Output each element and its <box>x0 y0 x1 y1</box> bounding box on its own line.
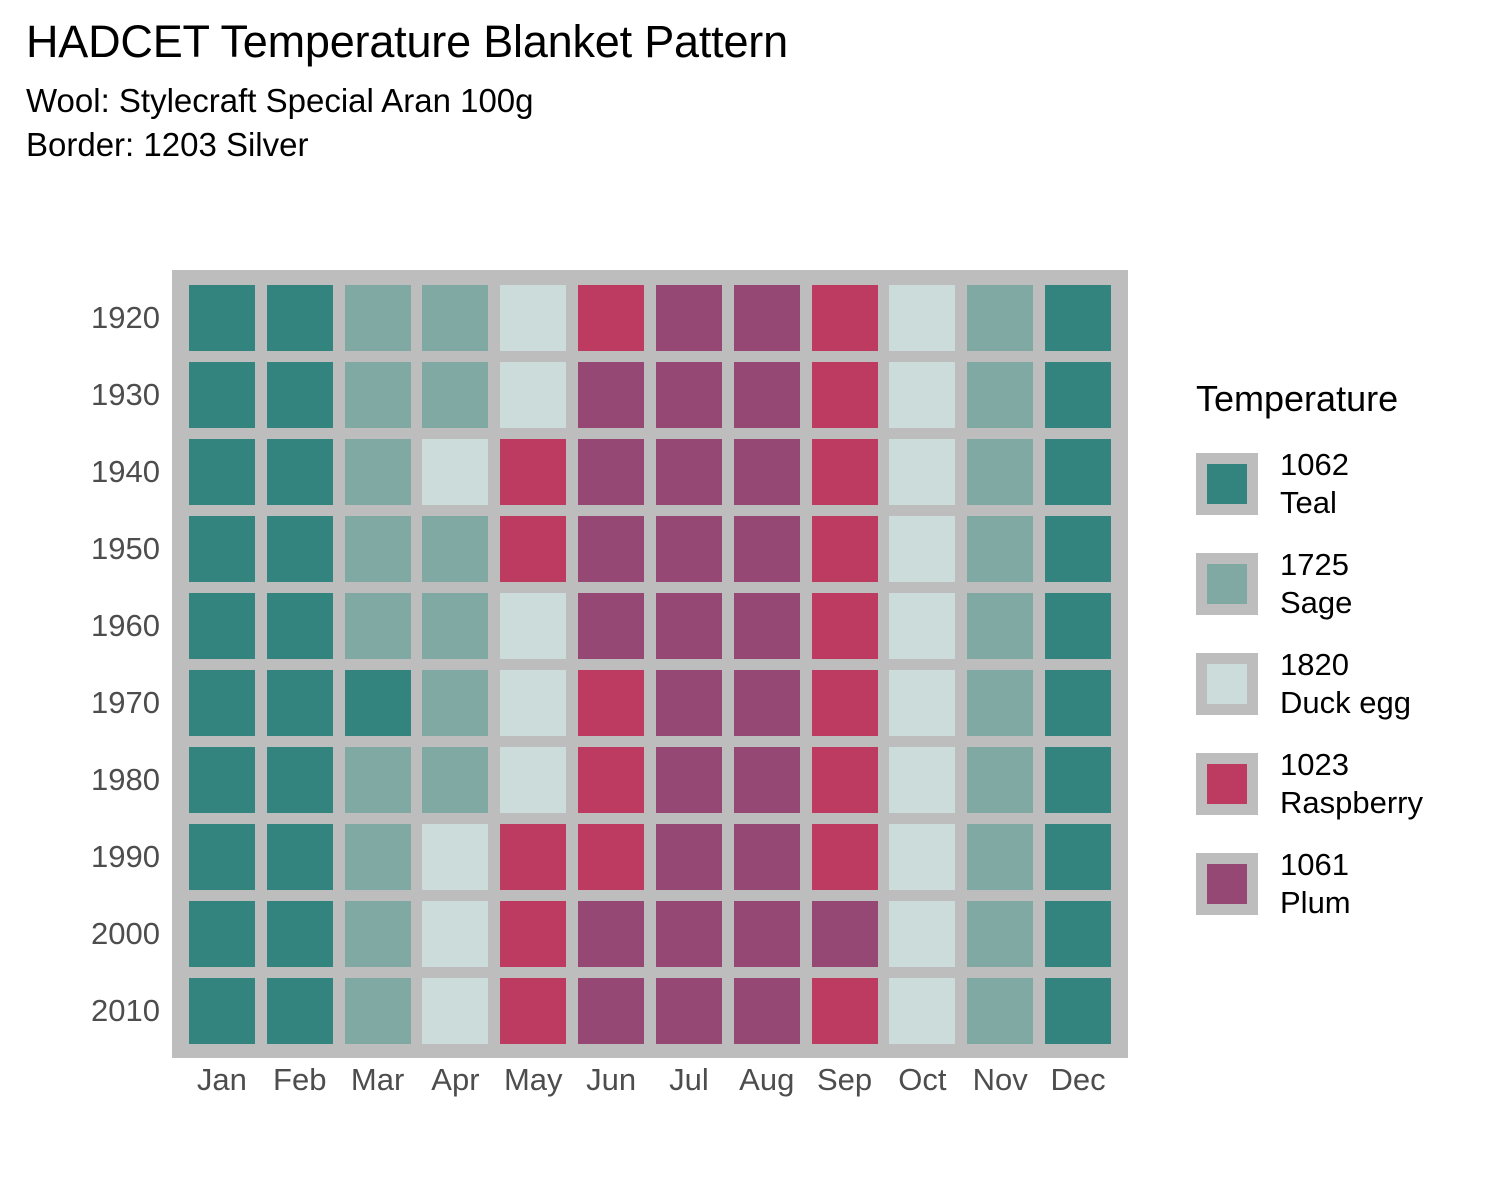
heatmap-cell-2000-May <box>500 901 566 967</box>
heatmap-cell-1960-Oct <box>889 593 955 659</box>
heatmap-cell-slot <box>572 818 650 895</box>
heatmap-cell-1980-Mar <box>345 747 411 813</box>
heatmap-cell-1930-Jul <box>656 362 722 428</box>
heatmap-cell-slot <box>650 279 728 356</box>
y-axis-tick-1970: 1970 <box>60 664 160 741</box>
legend-label: 1820Duck egg <box>1280 646 1411 722</box>
heatmap-cell-slot <box>806 433 884 510</box>
legend-label: 1062Teal <box>1280 446 1349 522</box>
legend-key-background <box>1196 453 1258 515</box>
heatmap-cell-1970-Mar <box>345 670 411 736</box>
heatmap-cell-slot <box>884 741 962 818</box>
heatmap-cell-slot <box>884 664 962 741</box>
legend-item-teal[interactable]: 1062Teal <box>1196 434 1496 534</box>
heatmap-cell-1960-Nov <box>967 593 1033 659</box>
x-axis-tick-nov: Nov <box>961 1062 1039 1118</box>
heatmap-cell-1950-Apr <box>422 516 488 582</box>
heatmap-cell-slot <box>261 587 339 664</box>
heatmap-cell-slot <box>884 587 962 664</box>
y-axis-tick-2010: 2010 <box>60 972 160 1049</box>
heatmap-cell-slot <box>650 972 728 1049</box>
heatmap-cell-slot <box>417 510 495 587</box>
heatmap-cell-1980-Jan <box>189 747 255 813</box>
heatmap-cell-1960-Jan <box>189 593 255 659</box>
heatmap-cell-slot <box>728 279 806 356</box>
heatmap-cell-slot <box>494 818 572 895</box>
legend-swatch-plum <box>1207 864 1247 904</box>
heatmap-cell-slot <box>884 818 962 895</box>
heatmap-cell-1990-Oct <box>889 824 955 890</box>
heatmap-cell-1970-Nov <box>967 670 1033 736</box>
heatmap-cell-1980-Jun <box>578 747 644 813</box>
heatmap-cell-slot <box>806 741 884 818</box>
heatmap-cell-slot <box>961 741 1039 818</box>
chart-subtitle: Wool: Stylecraft Special Aran 100gBorder… <box>26 79 1226 166</box>
heatmap-cell-slot <box>339 895 417 972</box>
legend-label: 1725Sage <box>1280 546 1352 622</box>
heatmap-cell-1940-Sep <box>812 439 878 505</box>
heatmap-cell-1970-Oct <box>889 670 955 736</box>
x-axis-tick-jun: Jun <box>572 1062 650 1118</box>
heatmap-cell-1920-Oct <box>889 285 955 351</box>
heatmap-cell-1930-Sep <box>812 362 878 428</box>
heatmap-cell-1930-Jun <box>578 362 644 428</box>
heatmap-cell-1950-Jul <box>656 516 722 582</box>
heatmap-cell-1980-Feb <box>267 747 333 813</box>
legend-name: Teal <box>1280 484 1349 522</box>
heatmap-cell-1990-Jul <box>656 824 722 890</box>
heatmap-cell-1970-Apr <box>422 670 488 736</box>
heatmap-cell-slot <box>1039 741 1117 818</box>
heatmap-cell-1990-Nov <box>967 824 1033 890</box>
heatmap-cell-slot <box>572 664 650 741</box>
heatmap-cell-1940-Oct <box>889 439 955 505</box>
heatmap-cell-slot <box>884 279 962 356</box>
heatmap-cell-slot <box>728 818 806 895</box>
heatmap-cell-slot <box>728 356 806 433</box>
heatmap-cell-1920-May <box>500 285 566 351</box>
legend-swatch-duck-egg <box>1207 664 1247 704</box>
heatmap-cell-slot <box>650 664 728 741</box>
heatmap-cell-2010-Mar <box>345 978 411 1044</box>
heatmap-cell-slot <box>650 433 728 510</box>
heatmap-cell-slot <box>261 895 339 972</box>
heatmap-cell-1920-Aug <box>734 285 800 351</box>
heatmap-cell-1950-Sep <box>812 516 878 582</box>
heatmap-cell-2010-May <box>500 978 566 1044</box>
heatmap-cell-1920-Apr <box>422 285 488 351</box>
heatmap-cell-1980-Aug <box>734 747 800 813</box>
legend-label: 1023Raspberry <box>1280 746 1423 822</box>
heatmap-cell-slot <box>1039 818 1117 895</box>
heatmap-cell-slot <box>417 818 495 895</box>
heatmap-cell-1970-Feb <box>267 670 333 736</box>
heatmap-cell-slot <box>1039 433 1117 510</box>
legend-item-sage[interactable]: 1725Sage <box>1196 534 1496 634</box>
heatmap-cell-1990-Aug <box>734 824 800 890</box>
heatmap-cell-2000-Jul <box>656 901 722 967</box>
legend-items: 1062Teal1725Sage1820Duck egg1023Raspberr… <box>1196 434 1496 934</box>
heatmap-cell-1960-May <box>500 593 566 659</box>
x-axis-tick-apr: Apr <box>417 1062 495 1118</box>
x-axis-tick-aug: Aug <box>728 1062 806 1118</box>
heatmap-cell-slot <box>183 510 261 587</box>
heatmap-cell-1930-May <box>500 362 566 428</box>
heatmap-cell-slot <box>728 741 806 818</box>
heatmap-cell-slot <box>572 895 650 972</box>
heatmap-cell-1940-May <box>500 439 566 505</box>
heatmap-cell-slot <box>572 972 650 1049</box>
heatmap-cell-slot <box>806 356 884 433</box>
heatmap-cell-slot <box>1039 356 1117 433</box>
heatmap-cell-1920-Mar <box>345 285 411 351</box>
heatmap-cell-slot <box>183 741 261 818</box>
heatmap-cell-slot <box>494 433 572 510</box>
legend-code: 1820 <box>1280 646 1411 684</box>
heatmap-cell-slot <box>961 972 1039 1049</box>
heatmap-cell-slot <box>183 433 261 510</box>
legend-code: 1023 <box>1280 746 1423 784</box>
heatmap-cell-1940-Feb <box>267 439 333 505</box>
heatmap-cell-2000-Sep <box>812 901 878 967</box>
heatmap-cell-slot <box>261 741 339 818</box>
heatmap-cell-slot <box>806 972 884 1049</box>
heatmap-cell-2000-Feb <box>267 901 333 967</box>
heatmap-cell-slot <box>261 279 339 356</box>
heatmap-cell-slot <box>339 741 417 818</box>
heatmap-cell-slot <box>339 510 417 587</box>
heatmap-cell-1960-Aug <box>734 593 800 659</box>
legend-label: 1061Plum <box>1280 846 1351 922</box>
heatmap-cell-2010-Nov <box>967 978 1033 1044</box>
y-axis-tick-1930: 1930 <box>60 356 160 433</box>
heatmap-cell-1930-Aug <box>734 362 800 428</box>
heatmap-cell-1950-Oct <box>889 516 955 582</box>
heatmap-cell-1950-Jun <box>578 516 644 582</box>
heatmap-cell-1920-Nov <box>967 285 1033 351</box>
heatmap-cell-slot <box>572 356 650 433</box>
heatmap-cell-slot <box>884 972 962 1049</box>
heatmap-panel <box>172 270 1128 1058</box>
heatmap-cell-slot <box>1039 972 1117 1049</box>
heatmap-cell-1930-Nov <box>967 362 1033 428</box>
legend-title: Temperature <box>1196 378 1496 420</box>
heatmap-cell-slot <box>261 356 339 433</box>
chart-title: HADCET Temperature Blanket Pattern <box>26 18 1226 65</box>
heatmap-cell-1980-May <box>500 747 566 813</box>
heatmap-cell-1930-Apr <box>422 362 488 428</box>
heatmap-cell-1920-Feb <box>267 285 333 351</box>
heatmap-cell-slot <box>961 587 1039 664</box>
heatmap-cell-slot <box>728 510 806 587</box>
y-axis-tick-1980: 1980 <box>60 741 160 818</box>
heatmap-cell-1970-Jun <box>578 670 644 736</box>
heatmap-cell-1990-Mar <box>345 824 411 890</box>
heatmap-cell-1960-Jul <box>656 593 722 659</box>
heatmap-cell-slot <box>183 895 261 972</box>
heatmap-grid <box>172 270 1128 1058</box>
x-axis: JanFebMarAprMayJunJulAugSepOctNovDec <box>172 1062 1128 1118</box>
heatmap-cell-slot <box>572 433 650 510</box>
legend-key-background <box>1196 753 1258 815</box>
heatmap-cell-1980-Oct <box>889 747 955 813</box>
heatmap-cell-1960-Apr <box>422 593 488 659</box>
heatmap-cell-slot <box>261 972 339 1049</box>
heatmap-cell-1950-Dec <box>1045 516 1111 582</box>
heatmap-cell-1930-Mar <box>345 362 411 428</box>
y-axis-tick-1990: 1990 <box>60 818 160 895</box>
legend: Temperature 1062Teal1725Sage1820Duck egg… <box>1196 378 1496 934</box>
heatmap-cell-slot <box>650 818 728 895</box>
heatmap-cell-slot <box>961 895 1039 972</box>
legend-name: Sage <box>1280 584 1352 622</box>
heatmap-cell-1950-May <box>500 516 566 582</box>
heatmap-cell-1990-Jun <box>578 824 644 890</box>
heatmap-cell-2010-Jan <box>189 978 255 1044</box>
y-axis-tick-1920: 1920 <box>60 279 160 356</box>
heatmap-cell-slot <box>494 972 572 1049</box>
heatmap-cell-slot <box>572 587 650 664</box>
heatmap-cell-1920-Jul <box>656 285 722 351</box>
heatmap-cell-slot <box>1039 510 1117 587</box>
y-axis-tick-1950: 1950 <box>60 510 160 587</box>
x-axis-tick-may: May <box>494 1062 572 1118</box>
heatmap-cell-slot <box>806 664 884 741</box>
heatmap-cell-slot <box>961 356 1039 433</box>
heatmap-cell-slot <box>884 356 962 433</box>
heatmap-cell-slot <box>183 279 261 356</box>
heatmap-cell-1920-Jan <box>189 285 255 351</box>
heatmap-cell-1980-Nov <box>967 747 1033 813</box>
heatmap-cell-slot <box>728 587 806 664</box>
heatmap-cell-slot <box>650 895 728 972</box>
heatmap-cell-1950-Nov <box>967 516 1033 582</box>
x-axis-tick-feb: Feb <box>261 1062 339 1118</box>
legend-swatch-sage <box>1207 564 1247 604</box>
heatmap-cell-1990-Sep <box>812 824 878 890</box>
heatmap-cell-1930-Feb <box>267 362 333 428</box>
heatmap-cell-1960-Jun <box>578 593 644 659</box>
heatmap-cell-slot <box>961 510 1039 587</box>
heatmap-cell-slot <box>806 818 884 895</box>
heatmap-cell-slot <box>494 356 572 433</box>
legend-key-background <box>1196 853 1258 915</box>
heatmap-cell-1960-Dec <box>1045 593 1111 659</box>
heatmap-cell-2000-Nov <box>967 901 1033 967</box>
y-axis: 1920193019401950196019701980199020002010 <box>60 270 160 1058</box>
subtitle-line-0: Wool: Stylecraft Special Aran 100g <box>26 79 1226 123</box>
heatmap-cell-1940-Jun <box>578 439 644 505</box>
legend-code: 1725 <box>1280 546 1352 584</box>
heatmap-cell-1940-Dec <box>1045 439 1111 505</box>
heatmap-cell-slot <box>650 510 728 587</box>
heatmap-cell-slot <box>339 433 417 510</box>
heatmap-cell-1950-Mar <box>345 516 411 582</box>
heatmap-cell-slot <box>1039 895 1117 972</box>
legend-code: 1061 <box>1280 846 1351 884</box>
x-axis-tick-mar: Mar <box>339 1062 417 1118</box>
heatmap-cell-slot <box>183 356 261 433</box>
heatmap-cell-1940-Apr <box>422 439 488 505</box>
heatmap-cell-1970-Sep <box>812 670 878 736</box>
heatmap-cell-1980-Apr <box>422 747 488 813</box>
heatmap-cell-slot <box>806 895 884 972</box>
heatmap-cell-1920-Jun <box>578 285 644 351</box>
heatmap-cell-1940-Aug <box>734 439 800 505</box>
heatmap-cell-1950-Feb <box>267 516 333 582</box>
legend-item-plum[interactable]: 1061Plum <box>1196 834 1496 934</box>
heatmap-cell-2010-Oct <box>889 978 955 1044</box>
heatmap-cell-2000-Dec <box>1045 901 1111 967</box>
y-axis-tick-2000: 2000 <box>60 895 160 972</box>
x-axis-tick-jul: Jul <box>650 1062 728 1118</box>
heatmap-cell-slot <box>339 587 417 664</box>
heatmap-cell-1980-Dec <box>1045 747 1111 813</box>
heatmap-cell-slot <box>884 433 962 510</box>
heatmap-cell-2000-Jun <box>578 901 644 967</box>
subtitle-line-1: Border: 1203 Silver <box>26 123 1226 167</box>
legend-name: Plum <box>1280 884 1351 922</box>
heatmap-cell-1980-Jul <box>656 747 722 813</box>
heatmap-cell-slot <box>572 510 650 587</box>
x-axis-tick-jan: Jan <box>183 1062 261 1118</box>
heatmap-cell-slot <box>339 356 417 433</box>
heatmap-cell-slot <box>1039 587 1117 664</box>
heatmap-cell-slot <box>494 587 572 664</box>
heatmap-cell-1970-Aug <box>734 670 800 736</box>
legend-item-duck-egg[interactable]: 1820Duck egg <box>1196 634 1496 734</box>
heatmap-cell-2000-Apr <box>422 901 488 967</box>
heatmap-cell-2000-Oct <box>889 901 955 967</box>
heatmap-cell-1940-Jul <box>656 439 722 505</box>
heatmap-cell-slot <box>806 279 884 356</box>
legend-item-raspberry[interactable]: 1023Raspberry <box>1196 734 1496 834</box>
heatmap-cell-1970-Dec <box>1045 670 1111 736</box>
heatmap-cell-slot <box>494 279 572 356</box>
heatmap-cell-1930-Jan <box>189 362 255 428</box>
heatmap-cell-1990-Dec <box>1045 824 1111 890</box>
heatmap-cell-slot <box>417 587 495 664</box>
heatmap-cell-1960-Sep <box>812 593 878 659</box>
heatmap-cell-1960-Mar <box>345 593 411 659</box>
legend-key-background <box>1196 653 1258 715</box>
heatmap-cell-2010-Apr <box>422 978 488 1044</box>
heatmap-cell-slot <box>961 433 1039 510</box>
heatmap-cell-slot <box>494 664 572 741</box>
heatmap-cell-1920-Sep <box>812 285 878 351</box>
heatmap-cell-slot <box>261 664 339 741</box>
legend-name: Duck egg <box>1280 684 1411 722</box>
heatmap-cell-1940-Mar <box>345 439 411 505</box>
heatmap-cell-slot <box>417 279 495 356</box>
heatmap-cell-1980-Sep <box>812 747 878 813</box>
heatmap-cell-slot <box>183 587 261 664</box>
heatmap-cell-slot <box>261 818 339 895</box>
heatmap-cell-slot <box>728 895 806 972</box>
legend-swatch-raspberry <box>1207 764 1247 804</box>
heatmap-cell-slot <box>494 741 572 818</box>
heatmap-cell-slot <box>339 972 417 1049</box>
heatmap-cell-1990-Jan <box>189 824 255 890</box>
heatmap-cell-slot <box>183 664 261 741</box>
heatmap-cell-slot <box>961 818 1039 895</box>
heatmap-cell-slot <box>417 895 495 972</box>
heatmap-cell-slot <box>728 664 806 741</box>
legend-key-background <box>1196 553 1258 615</box>
legend-code: 1062 <box>1280 446 1349 484</box>
heatmap-cell-slot <box>572 741 650 818</box>
heatmap-cell-slot <box>884 510 962 587</box>
y-axis-tick-1960: 1960 <box>60 587 160 664</box>
heatmap-cell-slot <box>961 279 1039 356</box>
heatmap-cell-1930-Oct <box>889 362 955 428</box>
heatmap-cell-slot <box>339 818 417 895</box>
heatmap-cell-1950-Jan <box>189 516 255 582</box>
heatmap-cell-1960-Feb <box>267 593 333 659</box>
legend-name: Raspberry <box>1280 784 1423 822</box>
heatmap-cell-slot <box>417 664 495 741</box>
heatmap-cell-slot <box>494 895 572 972</box>
y-axis-tick-1940: 1940 <box>60 433 160 510</box>
heatmap-cell-2000-Mar <box>345 901 411 967</box>
heatmap-cell-slot <box>650 356 728 433</box>
heatmap-cell-1990-Feb <box>267 824 333 890</box>
heatmap-cell-2010-Dec <box>1045 978 1111 1044</box>
x-axis-tick-dec: Dec <box>1039 1062 1117 1118</box>
heatmap-cell-2010-Sep <box>812 978 878 1044</box>
heatmap-cell-slot <box>806 587 884 664</box>
heatmap-cell-slot <box>417 972 495 1049</box>
heatmap-cell-slot <box>572 279 650 356</box>
heatmap-cell-2010-Aug <box>734 978 800 1044</box>
x-axis-tick-oct: Oct <box>884 1062 962 1118</box>
heatmap-cell-slot <box>728 433 806 510</box>
heatmap-cell-1970-May <box>500 670 566 736</box>
heatmap-cell-slot <box>339 279 417 356</box>
heatmap-cell-1970-Jan <box>189 670 255 736</box>
x-axis-tick-sep: Sep <box>806 1062 884 1118</box>
heatmap-cell-1990-Apr <box>422 824 488 890</box>
heatmap-cell-2000-Aug <box>734 901 800 967</box>
heatmap-cell-1990-May <box>500 824 566 890</box>
heatmap-cell-slot <box>884 895 962 972</box>
heatmap-cell-2010-Jun <box>578 978 644 1044</box>
heatmap-cell-slot <box>417 356 495 433</box>
heatmap-cell-slot <box>183 972 261 1049</box>
heatmap-cell-slot <box>417 741 495 818</box>
title-block: HADCET Temperature Blanket Pattern Wool:… <box>26 18 1226 166</box>
heatmap-cell-slot <box>1039 279 1117 356</box>
heatmap-cell-slot <box>961 664 1039 741</box>
heatmap-cell-slot <box>339 664 417 741</box>
heatmap-cell-slot <box>1039 664 1117 741</box>
heatmap-cell-2000-Jan <box>189 901 255 967</box>
heatmap-cell-slot <box>728 972 806 1049</box>
legend-swatch-teal <box>1207 464 1247 504</box>
heatmap-cell-slot <box>494 510 572 587</box>
heatmap-cell-2010-Jul <box>656 978 722 1044</box>
heatmap-cell-slot <box>261 510 339 587</box>
heatmap-cell-slot <box>183 818 261 895</box>
heatmap-cell-1940-Nov <box>967 439 1033 505</box>
heatmap-cell-1920-Dec <box>1045 285 1111 351</box>
heatmap-cell-slot <box>650 741 728 818</box>
heatmap-cell-1970-Jul <box>656 670 722 736</box>
heatmap-cell-slot <box>417 433 495 510</box>
heatmap-cell-1940-Jan <box>189 439 255 505</box>
heatmap-cell-slot <box>650 587 728 664</box>
heatmap-cell-1950-Aug <box>734 516 800 582</box>
